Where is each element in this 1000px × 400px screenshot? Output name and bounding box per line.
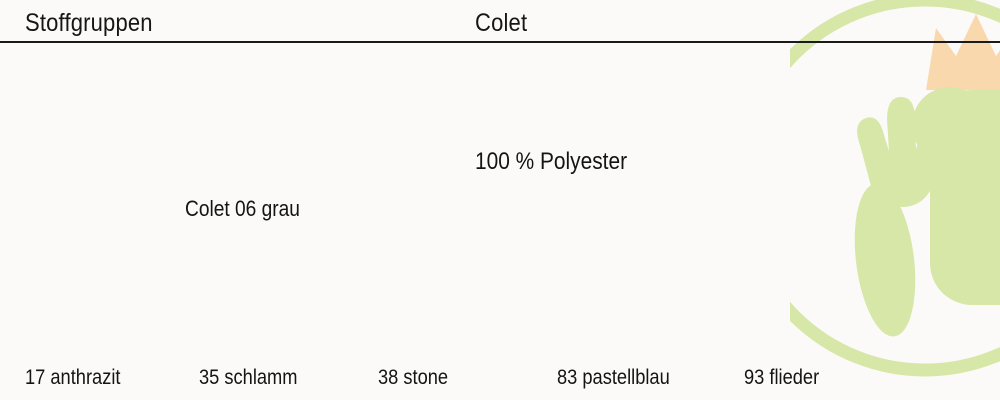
frog-body (930, 90, 1000, 305)
color-swatch (200, 257, 306, 363)
color-swatch-label: 93 flieder (744, 365, 819, 390)
color-swatch-label: 83 pastellblau (557, 365, 670, 390)
header-group-label: Stoffgruppen (25, 8, 153, 38)
color-swatch (740, 257, 846, 363)
main-fabric-label: Colet 06 grau (185, 196, 300, 222)
frog-head (912, 87, 988, 163)
header-collection-name: Colet (475, 8, 527, 38)
color-swatch-label: 38 stone (378, 365, 448, 390)
color-swatch (550, 257, 656, 363)
color-swatch (370, 257, 476, 363)
fabric-swatch-page: Stoffgruppen Colet Colet 06 grau 100 % P… (0, 0, 1000, 400)
material-composition: 100 % Polyester (475, 147, 627, 177)
frog-waving-hand (857, 97, 951, 207)
color-swatch (25, 257, 131, 363)
main-fabric-swatch (20, 58, 172, 210)
header-divider (0, 41, 1000, 43)
color-swatch-label: 35 schlamm (199, 365, 297, 390)
page-header: Stoffgruppen Colet (0, 0, 1000, 43)
color-swatch-label: 17 anthrazit (25, 365, 120, 390)
frog-leg (847, 180, 923, 340)
